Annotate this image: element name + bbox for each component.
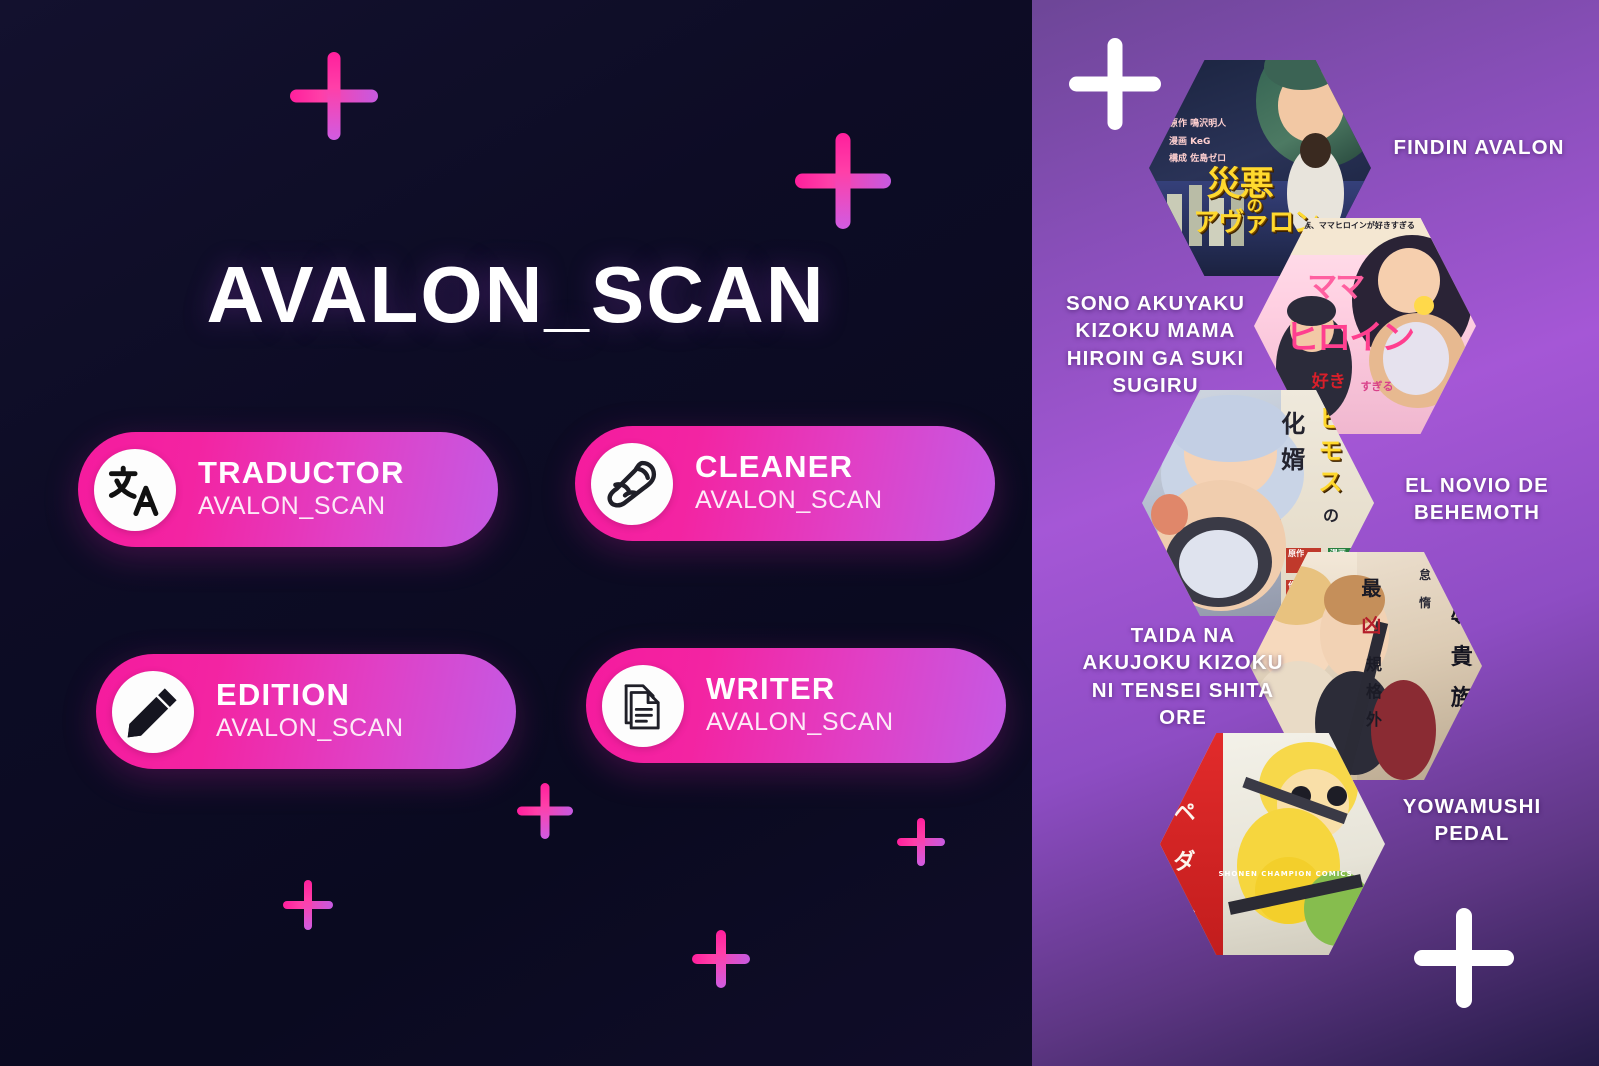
showcase-caption: SONO AKUYAKU KIZOKU MAMA HIROIN GA SUKI … [1048, 290, 1263, 399]
poster-canvas: AVALON_SCAN TRADUCTOR AVALO [0, 0, 1599, 1066]
role-text: TRADUCTOR AVALON_SCAN [198, 457, 405, 523]
role-button-cleaner[interactable]: CLEANER AVALON_SCAN [575, 426, 995, 541]
document-icon [602, 665, 684, 747]
pink-cross-icon [290, 52, 378, 140]
pink-cross-icon [897, 818, 945, 866]
role-text: CLEANER AVALON_SCAN [695, 451, 883, 517]
showcase-panel: 原作 鳴沢明人 漫画 KeG 構成 佐島ゼロ 災悪 の アヴァロン その悪役貴族… [1032, 0, 1599, 1066]
role-title: EDITION [216, 679, 404, 712]
role-button-traductor[interactable]: TRADUCTOR AVALON_SCAN [78, 432, 498, 547]
role-text: EDITION AVALON_SCAN [216, 679, 404, 745]
eraser-icon [591, 443, 673, 525]
pink-cross-icon [692, 930, 750, 988]
role-button-edition[interactable]: EDITION AVALON_SCAN [96, 654, 516, 769]
translate-icon [94, 449, 176, 531]
showcase-caption: YOWAMUSHI PEDAL [1372, 793, 1572, 848]
pink-cross-icon [517, 783, 573, 839]
pink-cross-icon [795, 133, 891, 229]
showcase-caption: EL NOVIO DE BEHEMOTH [1377, 472, 1577, 527]
white-cross-icon [1414, 908, 1514, 1008]
showcase-caption: TAIDA NA AKUJOKU KIZOKU NI TENSEI SHITA … [1074, 622, 1292, 731]
role-text: WRITER AVALON_SCAN [706, 673, 894, 739]
role-subtitle: AVALON_SCAN [198, 491, 405, 522]
role-button-writer[interactable]: WRITER AVALON_SCAN [586, 648, 1006, 763]
page-title: AVALON_SCAN [0, 255, 1032, 335]
role-subtitle: AVALON_SCAN [706, 707, 894, 738]
showcase-caption: FINDIN AVALON [1384, 134, 1574, 161]
role-subtitle: AVALON_SCAN [216, 713, 404, 744]
left-panel: AVALON_SCAN TRADUCTOR AVALO [0, 0, 1032, 1066]
role-subtitle: AVALON_SCAN [695, 485, 883, 516]
white-cross-icon [1069, 38, 1161, 130]
role-title: WRITER [706, 673, 894, 706]
role-title: CLEANER [695, 451, 883, 484]
pencil-icon [112, 671, 194, 753]
role-title: TRADUCTOR [198, 457, 405, 490]
pink-cross-icon [283, 880, 333, 930]
